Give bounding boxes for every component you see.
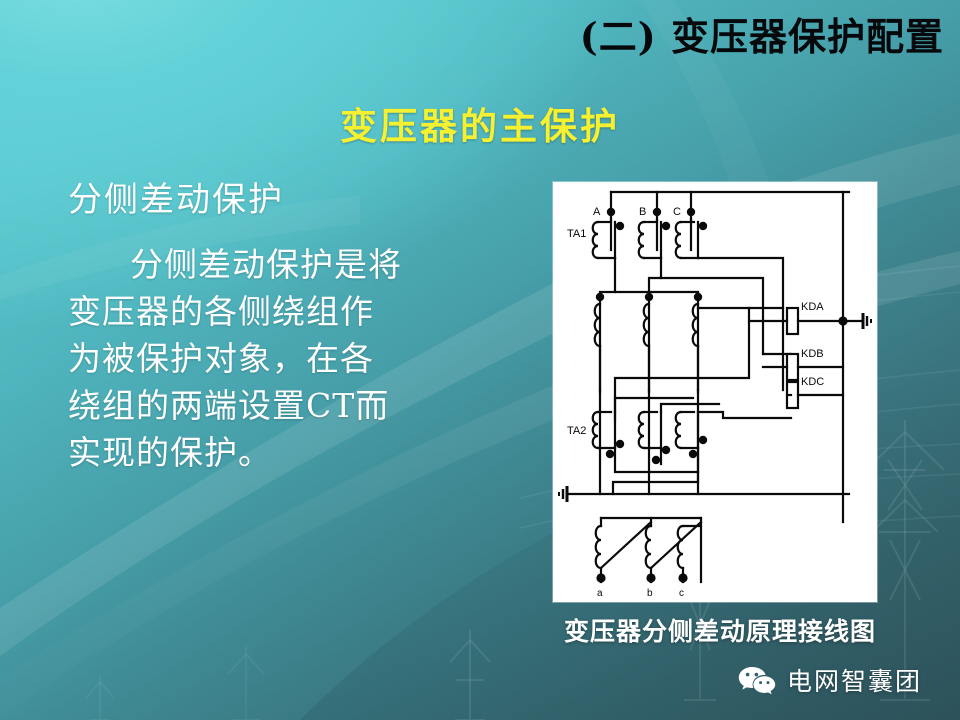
section-heading: 变压器的主保护 [0, 96, 960, 150]
body-line: 分侧差动保护是将 [68, 242, 488, 289]
body-line: 为被保护对象，在各 [68, 336, 488, 383]
phase-label-a: a [597, 588, 603, 599]
phase-label-c: c [679, 588, 684, 599]
watermark-text: 电网智囊团 [787, 662, 922, 698]
earth-symbols [559, 313, 871, 502]
body-line: 实现的保护。 [68, 430, 488, 477]
phase-label-B: B [639, 206, 646, 218]
ct-label-ta2: TA2 [567, 425, 586, 437]
split-side-differential-schematic: A B C TA1 TA2 KDA KDB KDC a b c [553, 182, 877, 602]
phase-label-C: C [673, 206, 681, 218]
phase-label-A: A [593, 206, 601, 218]
body-line: 变压器的各侧绕组作 [68, 289, 488, 336]
relay-label-kda: KDA [801, 301, 824, 313]
relay-label-kdc: KDC [801, 376, 824, 388]
phase-label-b: b [647, 588, 653, 599]
slide-canvas: (二) 变压器保护配置 变压器的主保护 分侧差动保护 分侧差动保护是将 变压器的… [0, 0, 960, 720]
watermark: 电网智囊团 [738, 662, 922, 698]
wechat-icon [738, 665, 776, 695]
circuit-diagram-panel: A B C TA1 TA2 KDA KDB KDC a b c [553, 182, 877, 602]
sub-heading: 分侧差动保护 [68, 180, 488, 220]
figure-caption: 变压器分侧差动原理接线图 [520, 612, 920, 648]
content-text-column: 分侧差动保护 分侧差动保护是将 变压器的各侧绕组作 为被保护对象，在各 绕组的两… [68, 180, 488, 476]
slide-title: (二) 变压器保护配置 [0, 14, 944, 60]
body-line: 绕组的两端设置CT而 [68, 383, 488, 430]
relay-label-kdb: KDB [801, 348, 824, 360]
body-paragraph: 分侧差动保护是将 变压器的各侧绕组作 为被保护对象，在各 绕组的两端设置CT而 … [68, 242, 488, 476]
ct-label-ta1: TA1 [567, 228, 586, 240]
